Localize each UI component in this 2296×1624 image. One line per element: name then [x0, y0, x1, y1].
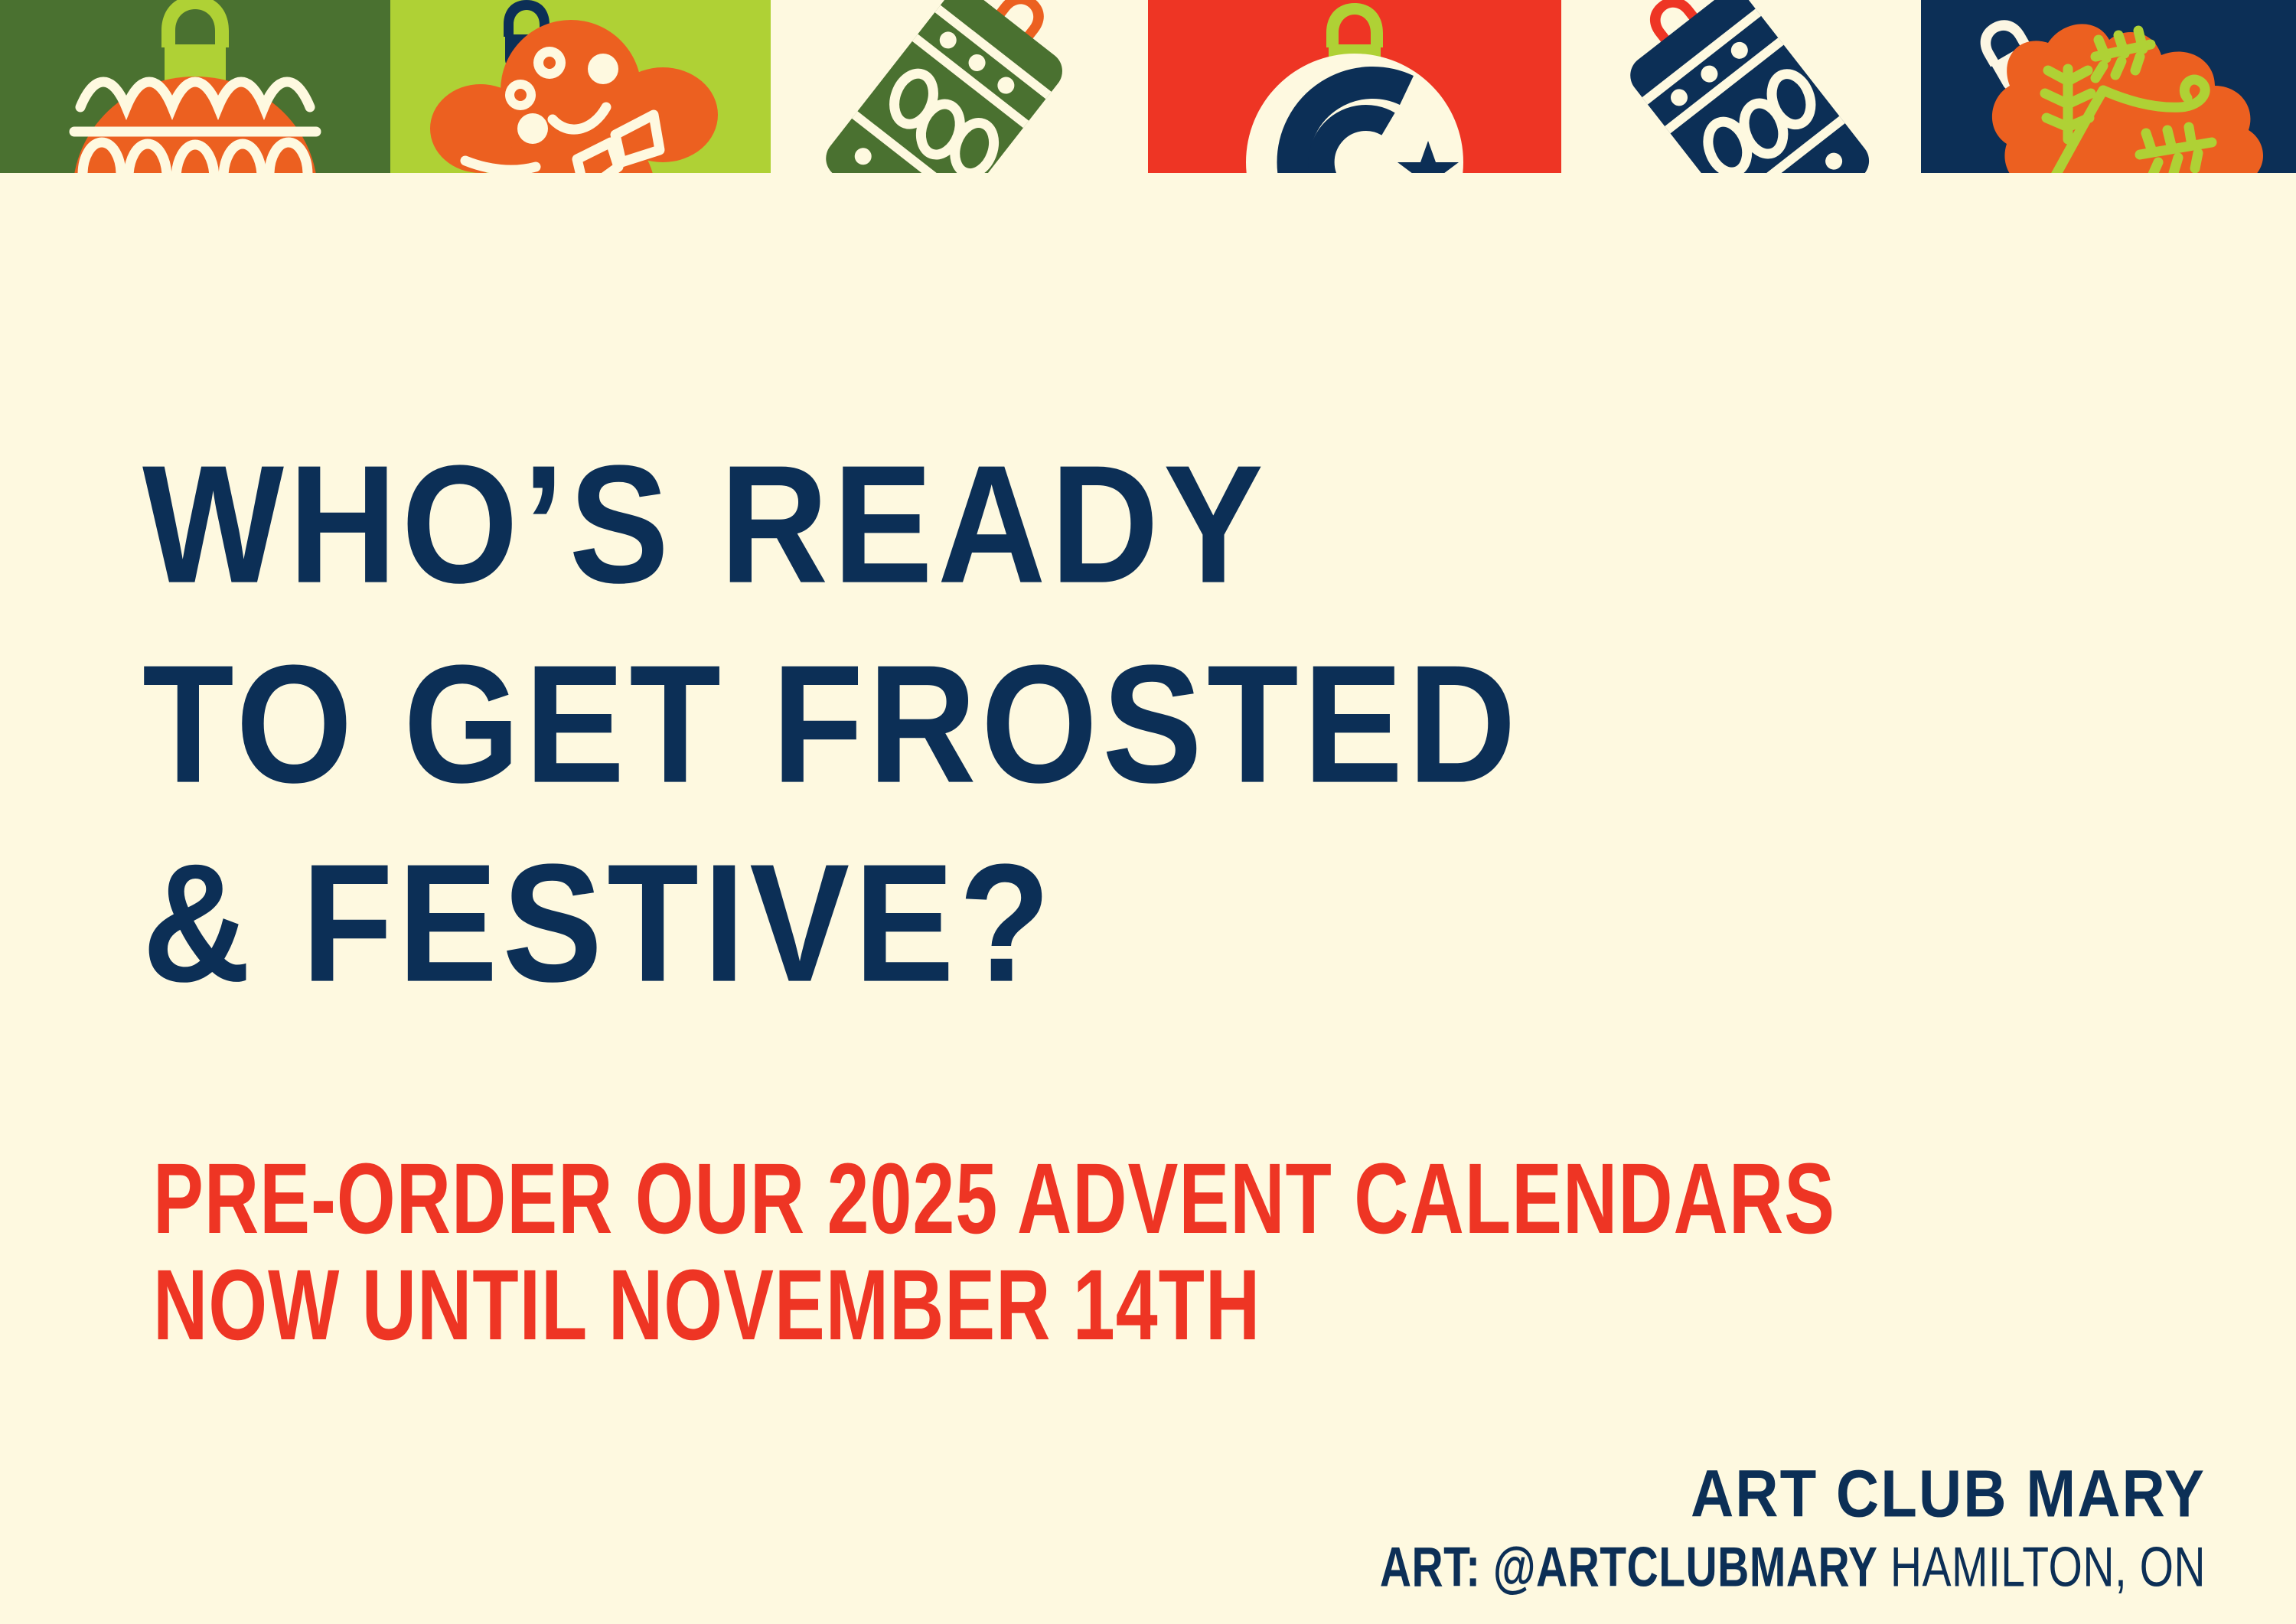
banner-panel-logo-ornament	[1148, 0, 1561, 173]
location-label: HAMILTON, ON	[1890, 1536, 2206, 1598]
headline-line-2: TO GET FROSTED	[142, 613, 2209, 836]
c-star-logo-ornament-icon	[1148, 0, 1561, 173]
brand-name: ART CLUB MARY	[1308, 1455, 2206, 1533]
oak-leaf-ornament-icon	[1921, 0, 2296, 173]
headline-line-1: WHO’S READY	[142, 413, 2209, 637]
social-handle: ART: @ARTCLUBMARY	[1380, 1536, 1878, 1598]
banner-panel-ball-ornament	[0, 0, 390, 173]
banner-panel-navy-cracker	[1561, 0, 1921, 173]
subheading: PRE-ORDER OUR 2025 ADVENT CALENDARS NOW …	[153, 1133, 1924, 1346]
poster: WHO’S READY TO GET FROSTED & FESTIVE? PR…	[0, 0, 2296, 1624]
gingerbread-man-icon	[390, 0, 771, 173]
banner-panel-green-cracker	[771, 0, 1148, 173]
credit-line: ART: @ARTCLUBMARY HAMILTON, ON	[1380, 1535, 2206, 1600]
banner-panel-gingerbread-ornament	[390, 0, 771, 173]
cylinder-cracker-ornament-icon	[1561, 0, 1921, 173]
headline-line-3: & FESTIVE?	[142, 812, 2209, 1035]
ornament-banner	[0, 0, 2296, 173]
subheading-line-2: NOW UNTIL NOVEMBER 14TH	[153, 1239, 1835, 1374]
footer-signature: ART CLUB MARY ART: @ARTCLUBMARY HAMILTON…	[1308, 1463, 2206, 1600]
round-ball-ornament-icon	[0, 0, 390, 173]
headline: WHO’S READY TO GET FROSTED & FESTIVE?	[142, 413, 2209, 1012]
cylinder-cracker-ornament-icon	[771, 0, 1148, 173]
banner-panel-leaf-ornament	[1921, 0, 2296, 173]
